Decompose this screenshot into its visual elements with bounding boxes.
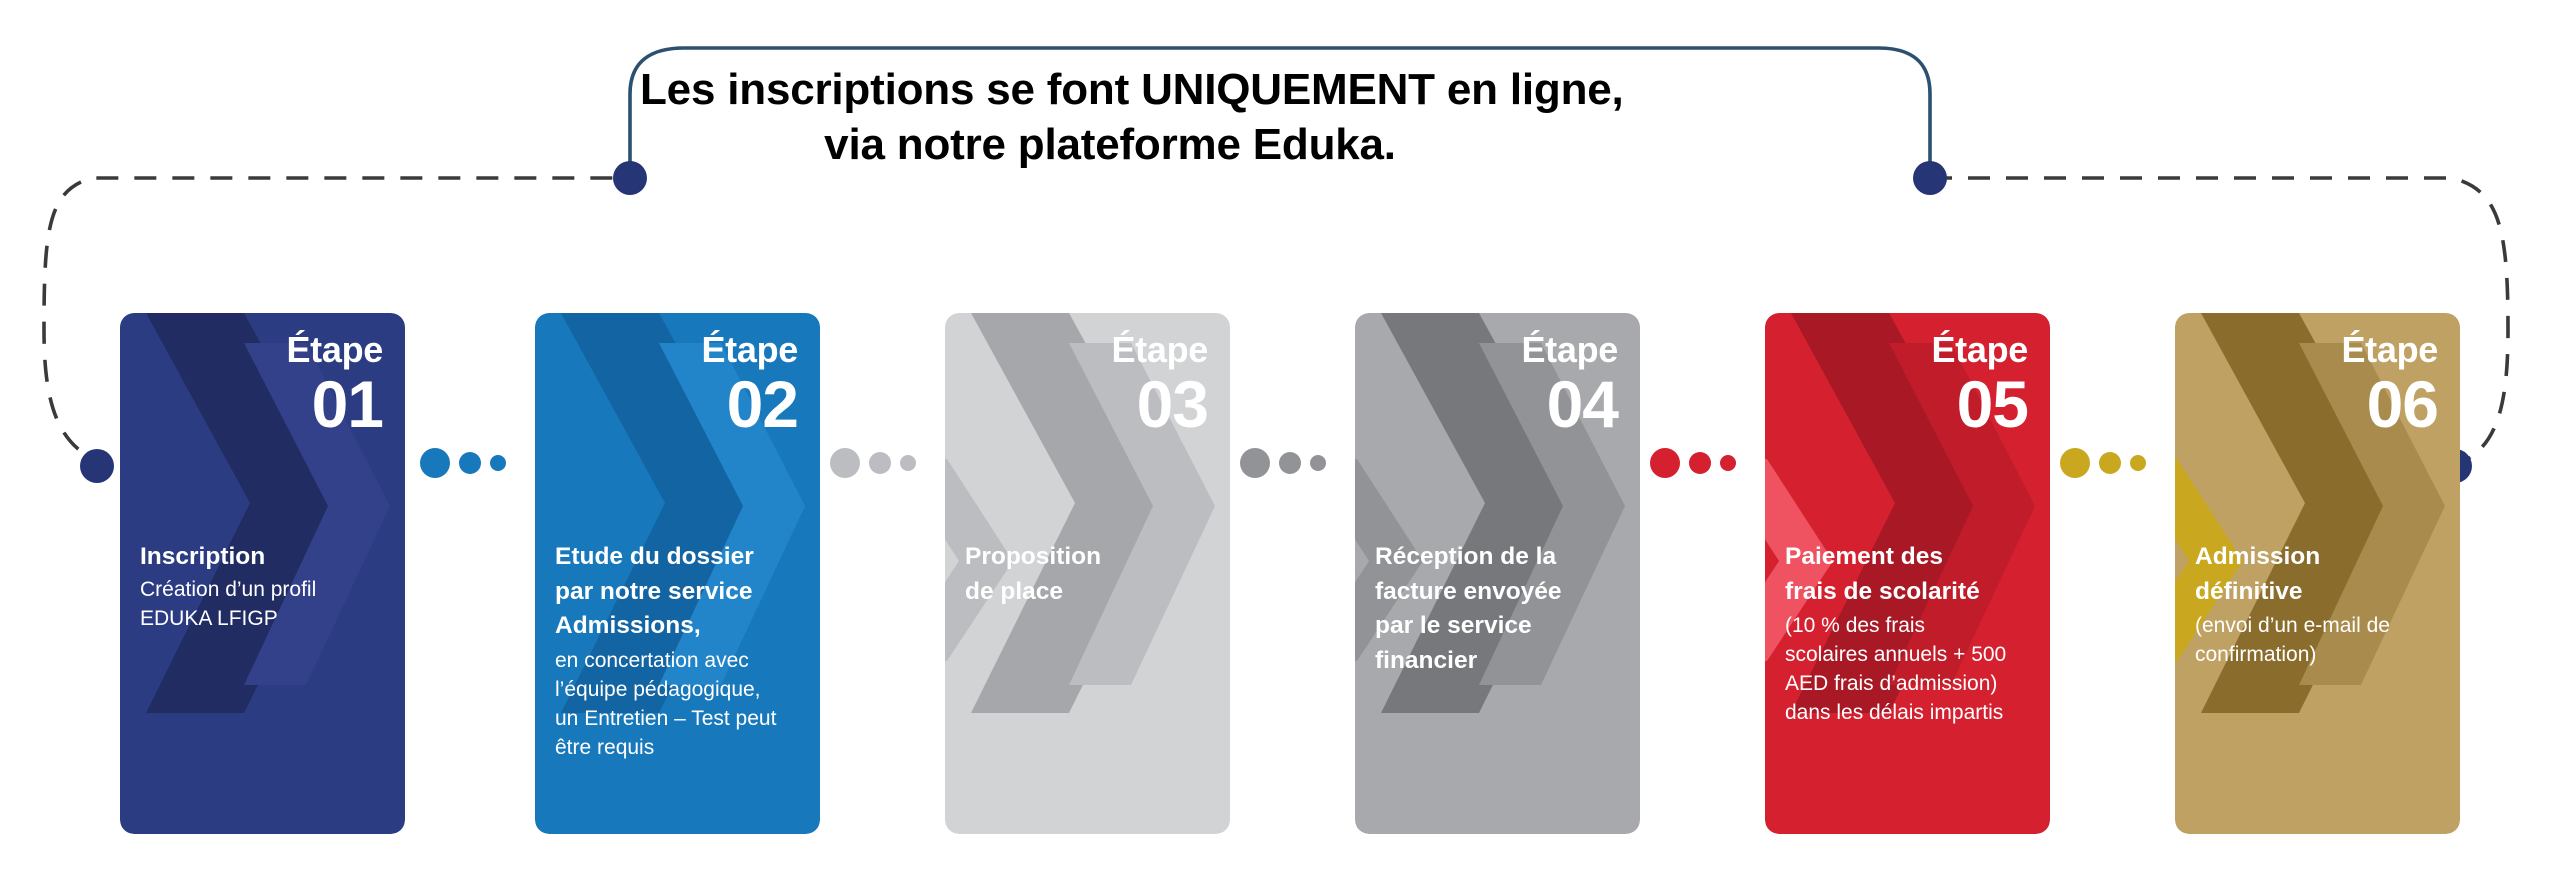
connector-dot-small: [1720, 455, 1736, 471]
callout-headline: Les inscriptions se font UNIQUEMENT en l…: [640, 62, 1580, 173]
step-06-number: 06: [2341, 371, 2438, 437]
step-02-title-line-2: par notre service: [555, 576, 806, 609]
step-06-etape-word: Étape: [2341, 331, 2438, 369]
step-03-eyebrow: Étape 03: [1111, 331, 1208, 437]
connector-dot-large: [2060, 448, 2090, 478]
step-06-title-line-2: définitive: [2195, 576, 2446, 609]
step-05-title-line-2: frais de scolarité: [1785, 576, 2036, 609]
step-02-title-line-3: Admissions,: [555, 610, 806, 643]
connector-dots-after-03: [1240, 448, 1326, 478]
step-card-01[interactable]: Étape 01 Inscription Création d’un profi…: [120, 313, 405, 834]
step-card-03[interactable]: Étape 03 Proposition de place: [945, 313, 1230, 834]
step-01-title: Inscription: [140, 541, 391, 574]
step-03-title-line-2: de place: [965, 576, 1216, 609]
step-05-eyebrow: Étape 05: [1931, 331, 2028, 437]
step-03-title-line-1: Proposition: [965, 541, 1216, 574]
step-02-eyebrow: Étape 02: [701, 331, 798, 437]
infographic-canvas: Les inscriptions se font UNIQUEMENT en l…: [0, 0, 2560, 882]
step-03-etape-word: Étape: [1111, 331, 1208, 369]
step-05-sub-line-4: dans les délais impartis: [1785, 699, 2036, 728]
step-card-06[interactable]: Étape 06 Admission définitive (envoi d’u…: [2175, 313, 2460, 834]
step-05-title-line-1: Paiement des: [1785, 541, 2036, 574]
step-card-04[interactable]: Étape 04 Réception de la facture envoyée…: [1355, 313, 1640, 834]
step-card-05-surface: Étape 05 Paiement des frais de scolarité…: [1765, 313, 2050, 834]
step-05-sub-line-3: AED frais d’admission): [1785, 670, 2036, 699]
step-02-sub-line-2: l’équipe pédagogique,: [555, 676, 806, 705]
route-node-bracket-left: [613, 161, 647, 195]
step-04-body: Réception de la facture envoyée par le s…: [1375, 541, 1626, 679]
step-01-eyebrow: Étape 01: [286, 331, 383, 437]
step-card-01-surface: Étape 01 Inscription Création d’un profi…: [120, 313, 405, 834]
step-02-title-line-1: Etude du dossier: [555, 541, 806, 574]
connector-dot-medium: [869, 452, 891, 474]
step-card-03-surface: Étape 03 Proposition de place: [945, 313, 1230, 834]
step-04-title-line-2: facture envoyée: [1375, 576, 1626, 609]
step-02-etape-word: Étape: [701, 331, 798, 369]
connector-dot-medium: [1689, 452, 1711, 474]
step-01-sub-line-2: EDUKA LFIGP: [140, 605, 391, 634]
connector-dots-after-05: [2060, 448, 2146, 478]
callout-line-1: Les inscriptions se font UNIQUEMENT en l…: [640, 62, 1580, 117]
step-02-sub-line-1: en concertation avec: [555, 647, 806, 676]
step-05-sub-line-2: scolaires annuels + 500: [1785, 641, 2036, 670]
connector-dot-small: [2130, 455, 2146, 471]
connector-dot-small: [1310, 455, 1326, 471]
connector-dot-small: [900, 455, 916, 471]
step-card-06-surface: Étape 06 Admission définitive (envoi d’u…: [2175, 313, 2460, 834]
step-card-02-surface: Étape 02 Etude du dossier par notre serv…: [535, 313, 820, 834]
step-02-sub-line-4: être requis: [555, 734, 806, 763]
step-01-body: Inscription Création d’un profil EDUKA L…: [140, 541, 391, 634]
step-01-etape-word: Étape: [286, 331, 383, 369]
step-05-body: Paiement des frais de scolarité (10 % de…: [1785, 541, 2036, 728]
step-04-title-line-1: Réception de la: [1375, 541, 1626, 574]
step-01-sub-line-1: Création d’un profil: [140, 576, 391, 605]
step-03-body: Proposition de place: [965, 541, 1216, 610]
step-02-body: Etude du dossier par notre service Admis…: [555, 541, 806, 763]
connector-dots-after-01: [420, 448, 506, 478]
step-04-number: 04: [1521, 371, 1618, 437]
connector-dot-large: [1650, 448, 1680, 478]
connector-dot-small: [490, 455, 506, 471]
step-card-04-surface: Étape 04 Réception de la facture envoyée…: [1355, 313, 1640, 834]
step-04-etape-word: Étape: [1521, 331, 1618, 369]
step-01-number: 01: [286, 371, 383, 437]
connector-dot-large: [420, 448, 450, 478]
route-node-start: [80, 449, 114, 483]
step-06-sub-line-1: (envoi d’un e-mail de: [2195, 612, 2446, 641]
step-04-eyebrow: Étape 04: [1521, 331, 1618, 437]
route-node-bracket-right: [1913, 161, 1947, 195]
connector-dot-large: [830, 448, 860, 478]
step-04-title-line-4: financier: [1375, 645, 1626, 678]
step-06-body: Admission définitive (envoi d’un e-mail …: [2195, 541, 2446, 670]
connector-dots-after-04: [1650, 448, 1736, 478]
step-card-02[interactable]: Étape 02 Etude du dossier par notre serv…: [535, 313, 820, 834]
step-04-title-line-3: par le service: [1375, 610, 1626, 643]
step-05-etape-word: Étape: [1931, 331, 2028, 369]
connector-dot-medium: [459, 452, 481, 474]
connector-dots-after-02: [830, 448, 916, 478]
connector-dot-large: [1240, 448, 1270, 478]
step-02-sub-line-3: un Entretien – Test peut: [555, 705, 806, 734]
step-02-number: 02: [701, 371, 798, 437]
connector-dot-medium: [2099, 452, 2121, 474]
step-03-number: 03: [1111, 371, 1208, 437]
step-05-sub-line-1: (10 % des frais: [1785, 612, 2036, 641]
step-06-sub-line-2: confirmation): [2195, 641, 2446, 670]
step-card-05[interactable]: Étape 05 Paiement des frais de scolarité…: [1765, 313, 2050, 834]
connector-dot-medium: [1279, 452, 1301, 474]
step-05-number: 05: [1931, 371, 2028, 437]
callout-line-2: via notre plateforme Eduka.: [640, 117, 1580, 172]
step-06-title-line-1: Admission: [2195, 541, 2446, 574]
step-06-eyebrow: Étape 06: [2341, 331, 2438, 437]
